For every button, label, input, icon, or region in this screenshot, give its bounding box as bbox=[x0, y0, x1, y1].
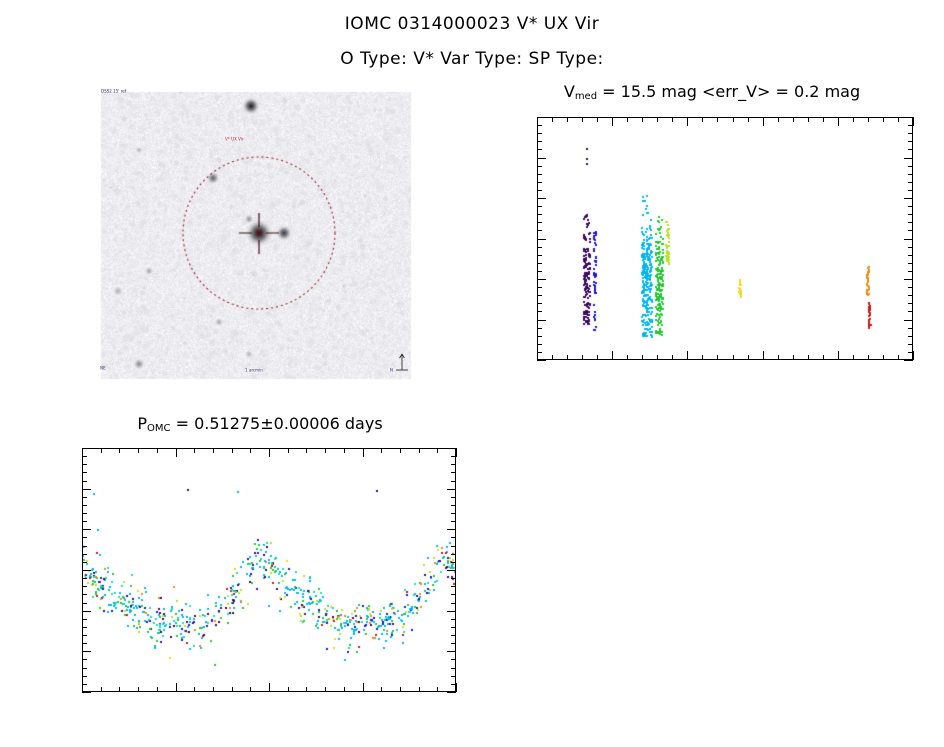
axis-tick bbox=[325, 448, 326, 453]
axis-tick bbox=[82, 578, 87, 579]
axis-tick bbox=[119, 448, 120, 453]
axis-tick bbox=[419, 448, 420, 453]
axis-tick bbox=[82, 481, 87, 482]
axis-tick bbox=[82, 529, 91, 530]
axis-tick bbox=[344, 448, 345, 453]
axis-tick bbox=[82, 562, 87, 563]
axis-tick bbox=[82, 497, 87, 498]
axis-tick bbox=[82, 603, 87, 604]
axis-tick bbox=[82, 537, 87, 538]
axis-tick bbox=[82, 627, 87, 628]
axis-tick bbox=[451, 505, 456, 506]
axis-tick bbox=[363, 448, 364, 457]
axis-tick bbox=[400, 687, 401, 692]
axis-tick bbox=[138, 687, 139, 692]
axis-tick bbox=[451, 594, 456, 595]
axis-tick bbox=[451, 603, 456, 604]
axis-tick bbox=[451, 627, 456, 628]
axis-tick bbox=[232, 448, 233, 453]
axis-tick bbox=[451, 578, 456, 579]
axis-tick bbox=[101, 448, 102, 453]
axis-tick bbox=[451, 643, 456, 644]
axis-tick bbox=[82, 554, 87, 555]
axis-tick bbox=[381, 687, 382, 692]
axis-tick bbox=[451, 456, 456, 457]
axis-tick bbox=[101, 687, 102, 692]
axis-tick bbox=[451, 635, 456, 636]
axis-tick bbox=[176, 683, 177, 692]
axis-tick bbox=[82, 643, 87, 644]
axis-tick bbox=[288, 687, 289, 692]
axis-tick bbox=[381, 448, 382, 453]
axis-tick bbox=[451, 497, 456, 498]
axis-tick bbox=[306, 448, 307, 453]
axis-tick bbox=[451, 472, 456, 473]
axis-tick bbox=[82, 611, 91, 612]
axis-tick bbox=[82, 448, 91, 449]
axis-tick bbox=[451, 562, 456, 563]
axis-tick bbox=[451, 481, 456, 482]
axis-tick bbox=[82, 472, 87, 473]
axis-tick bbox=[451, 554, 456, 555]
axis-tick bbox=[138, 448, 139, 453]
axis-tick bbox=[451, 546, 456, 547]
axis-tick bbox=[451, 668, 456, 669]
axis-tick bbox=[119, 687, 120, 692]
axis-tick bbox=[325, 687, 326, 692]
axis-tick bbox=[437, 448, 438, 453]
axis-tick bbox=[269, 448, 270, 457]
axis-tick bbox=[451, 464, 456, 465]
axis-tick bbox=[437, 687, 438, 692]
axis-tick bbox=[451, 537, 456, 538]
axis-tick bbox=[250, 687, 251, 692]
axis-tick bbox=[82, 659, 87, 660]
axis-tick bbox=[447, 448, 456, 449]
axis-tick bbox=[82, 594, 87, 595]
axis-tick bbox=[82, 668, 87, 669]
axis-tick bbox=[306, 687, 307, 692]
axis-tick bbox=[213, 448, 214, 453]
axis-tick bbox=[82, 513, 87, 514]
axis-tick bbox=[82, 684, 87, 685]
plots-layer bbox=[0, 0, 944, 747]
axis-tick bbox=[82, 692, 91, 693]
axis-tick bbox=[456, 683, 457, 692]
axis-tick bbox=[451, 586, 456, 587]
axis-tick bbox=[82, 521, 87, 522]
axis-tick bbox=[456, 448, 457, 457]
axis-tick bbox=[451, 684, 456, 685]
axis-tick bbox=[250, 448, 251, 453]
axis-tick bbox=[82, 651, 91, 652]
axis-tick bbox=[82, 635, 87, 636]
axis-tick bbox=[288, 448, 289, 453]
phase-plot bbox=[0, 0, 944, 747]
axis-tick bbox=[82, 456, 87, 457]
axis-tick bbox=[82, 546, 87, 547]
axis-tick bbox=[82, 489, 91, 490]
axis-tick bbox=[400, 448, 401, 453]
axis-tick bbox=[82, 464, 87, 465]
axis-tick bbox=[82, 505, 87, 506]
axis-tick bbox=[82, 586, 87, 587]
axis-tick bbox=[213, 687, 214, 692]
axis-tick bbox=[269, 683, 270, 692]
axis-tick bbox=[419, 687, 420, 692]
phase-plot-datapoints bbox=[83, 449, 455, 691]
axis-tick bbox=[157, 687, 158, 692]
axis-tick bbox=[82, 676, 87, 677]
axis-tick bbox=[82, 619, 87, 620]
axis-tick bbox=[447, 489, 456, 490]
axis-tick bbox=[447, 692, 456, 693]
axis-tick bbox=[447, 570, 456, 571]
axis-tick bbox=[451, 521, 456, 522]
axis-tick bbox=[344, 687, 345, 692]
axis-tick bbox=[363, 683, 364, 692]
axis-tick bbox=[451, 619, 456, 620]
axis-tick bbox=[451, 513, 456, 514]
axis-tick bbox=[157, 448, 158, 453]
axis-tick bbox=[176, 448, 177, 457]
axis-tick bbox=[447, 529, 456, 530]
axis-tick bbox=[194, 687, 195, 692]
axis-tick bbox=[451, 659, 456, 660]
axis-tick bbox=[82, 570, 91, 571]
axis-tick bbox=[447, 651, 456, 652]
axis-tick bbox=[447, 611, 456, 612]
axis-tick bbox=[194, 448, 195, 453]
axis-tick bbox=[232, 687, 233, 692]
axis-tick bbox=[451, 676, 456, 677]
